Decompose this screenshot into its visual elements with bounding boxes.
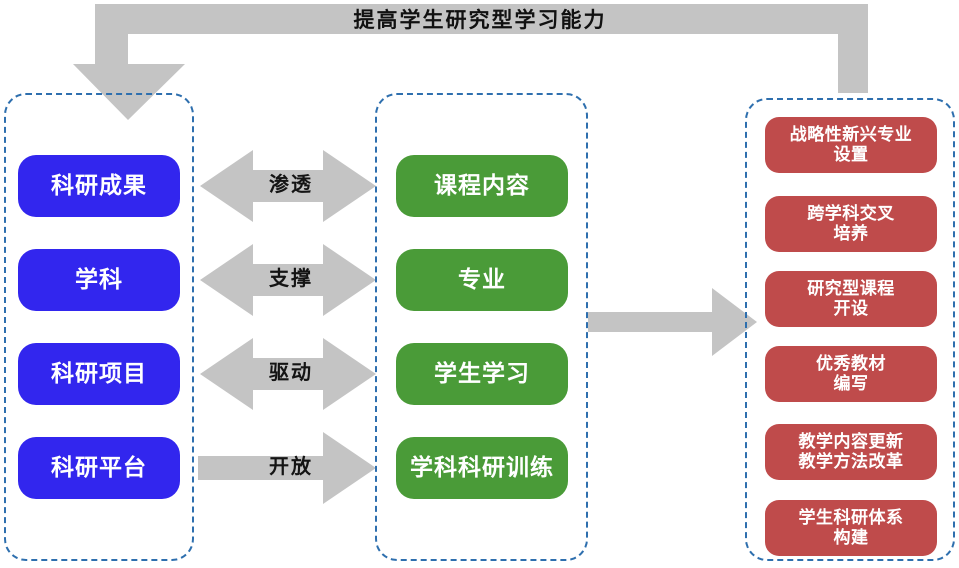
outcome-line1: 研究型课程 [807, 279, 895, 298]
outcome-line2: 构建 [834, 528, 869, 547]
node-outcome-student-research-system[interactable]: 学生科研体系 构建 [765, 500, 937, 556]
arrow-label-penetrate: 渗透 [228, 168, 354, 197]
node-research-achievements[interactable]: 科研成果 [18, 155, 180, 217]
node-outcome-interdisciplinary[interactable]: 跨学科交叉 培养 [765, 196, 937, 252]
node-student-learning[interactable]: 学生学习 [396, 343, 568, 405]
node-research-platform[interactable]: 科研平台 [18, 437, 180, 499]
outcome-line2: 教学方法改革 [799, 452, 904, 471]
outcome-line1: 教学内容更新 [799, 432, 904, 451]
arrow-label-drive: 驱动 [228, 356, 354, 385]
node-major[interactable]: 专业 [396, 249, 568, 311]
diagram-canvas: 提高学生研究型学习能力 科研成果 学科 科研项目 科研平台 课程内容 专业 学生… [0, 0, 959, 568]
arrow-label-open: 开放 [228, 450, 354, 479]
outcome-line1: 跨学科交叉 [807, 204, 895, 223]
node-discipline[interactable]: 学科 [18, 249, 180, 311]
flow-arrow-to-outcomes [588, 288, 757, 356]
outcome-line2: 开设 [834, 299, 869, 318]
node-outcome-content-method-reform[interactable]: 教学内容更新 教学方法改革 [765, 424, 937, 480]
node-outcome-strategic-majors[interactable]: 战略性新兴专业 设置 [765, 117, 937, 173]
outcome-line2: 设置 [834, 145, 869, 164]
node-discipline-research-training[interactable]: 学科科研训练 [396, 437, 568, 499]
banner-title: 提高学生研究型学习能力 [170, 4, 790, 34]
node-course-content[interactable]: 课程内容 [396, 155, 568, 217]
node-research-project[interactable]: 科研项目 [18, 343, 180, 405]
node-outcome-textbooks[interactable]: 优秀教材 编写 [765, 346, 937, 402]
node-outcome-research-courses[interactable]: 研究型课程 开设 [765, 271, 937, 327]
outcome-line1: 优秀教材 [816, 354, 886, 373]
arrow-label-support: 支撑 [228, 262, 354, 291]
outcome-line1: 战略性新兴专业 [790, 125, 913, 144]
outcome-line2: 编写 [834, 374, 869, 393]
outcome-line1: 学生科研体系 [799, 508, 904, 527]
outcome-line2: 培养 [834, 224, 869, 243]
